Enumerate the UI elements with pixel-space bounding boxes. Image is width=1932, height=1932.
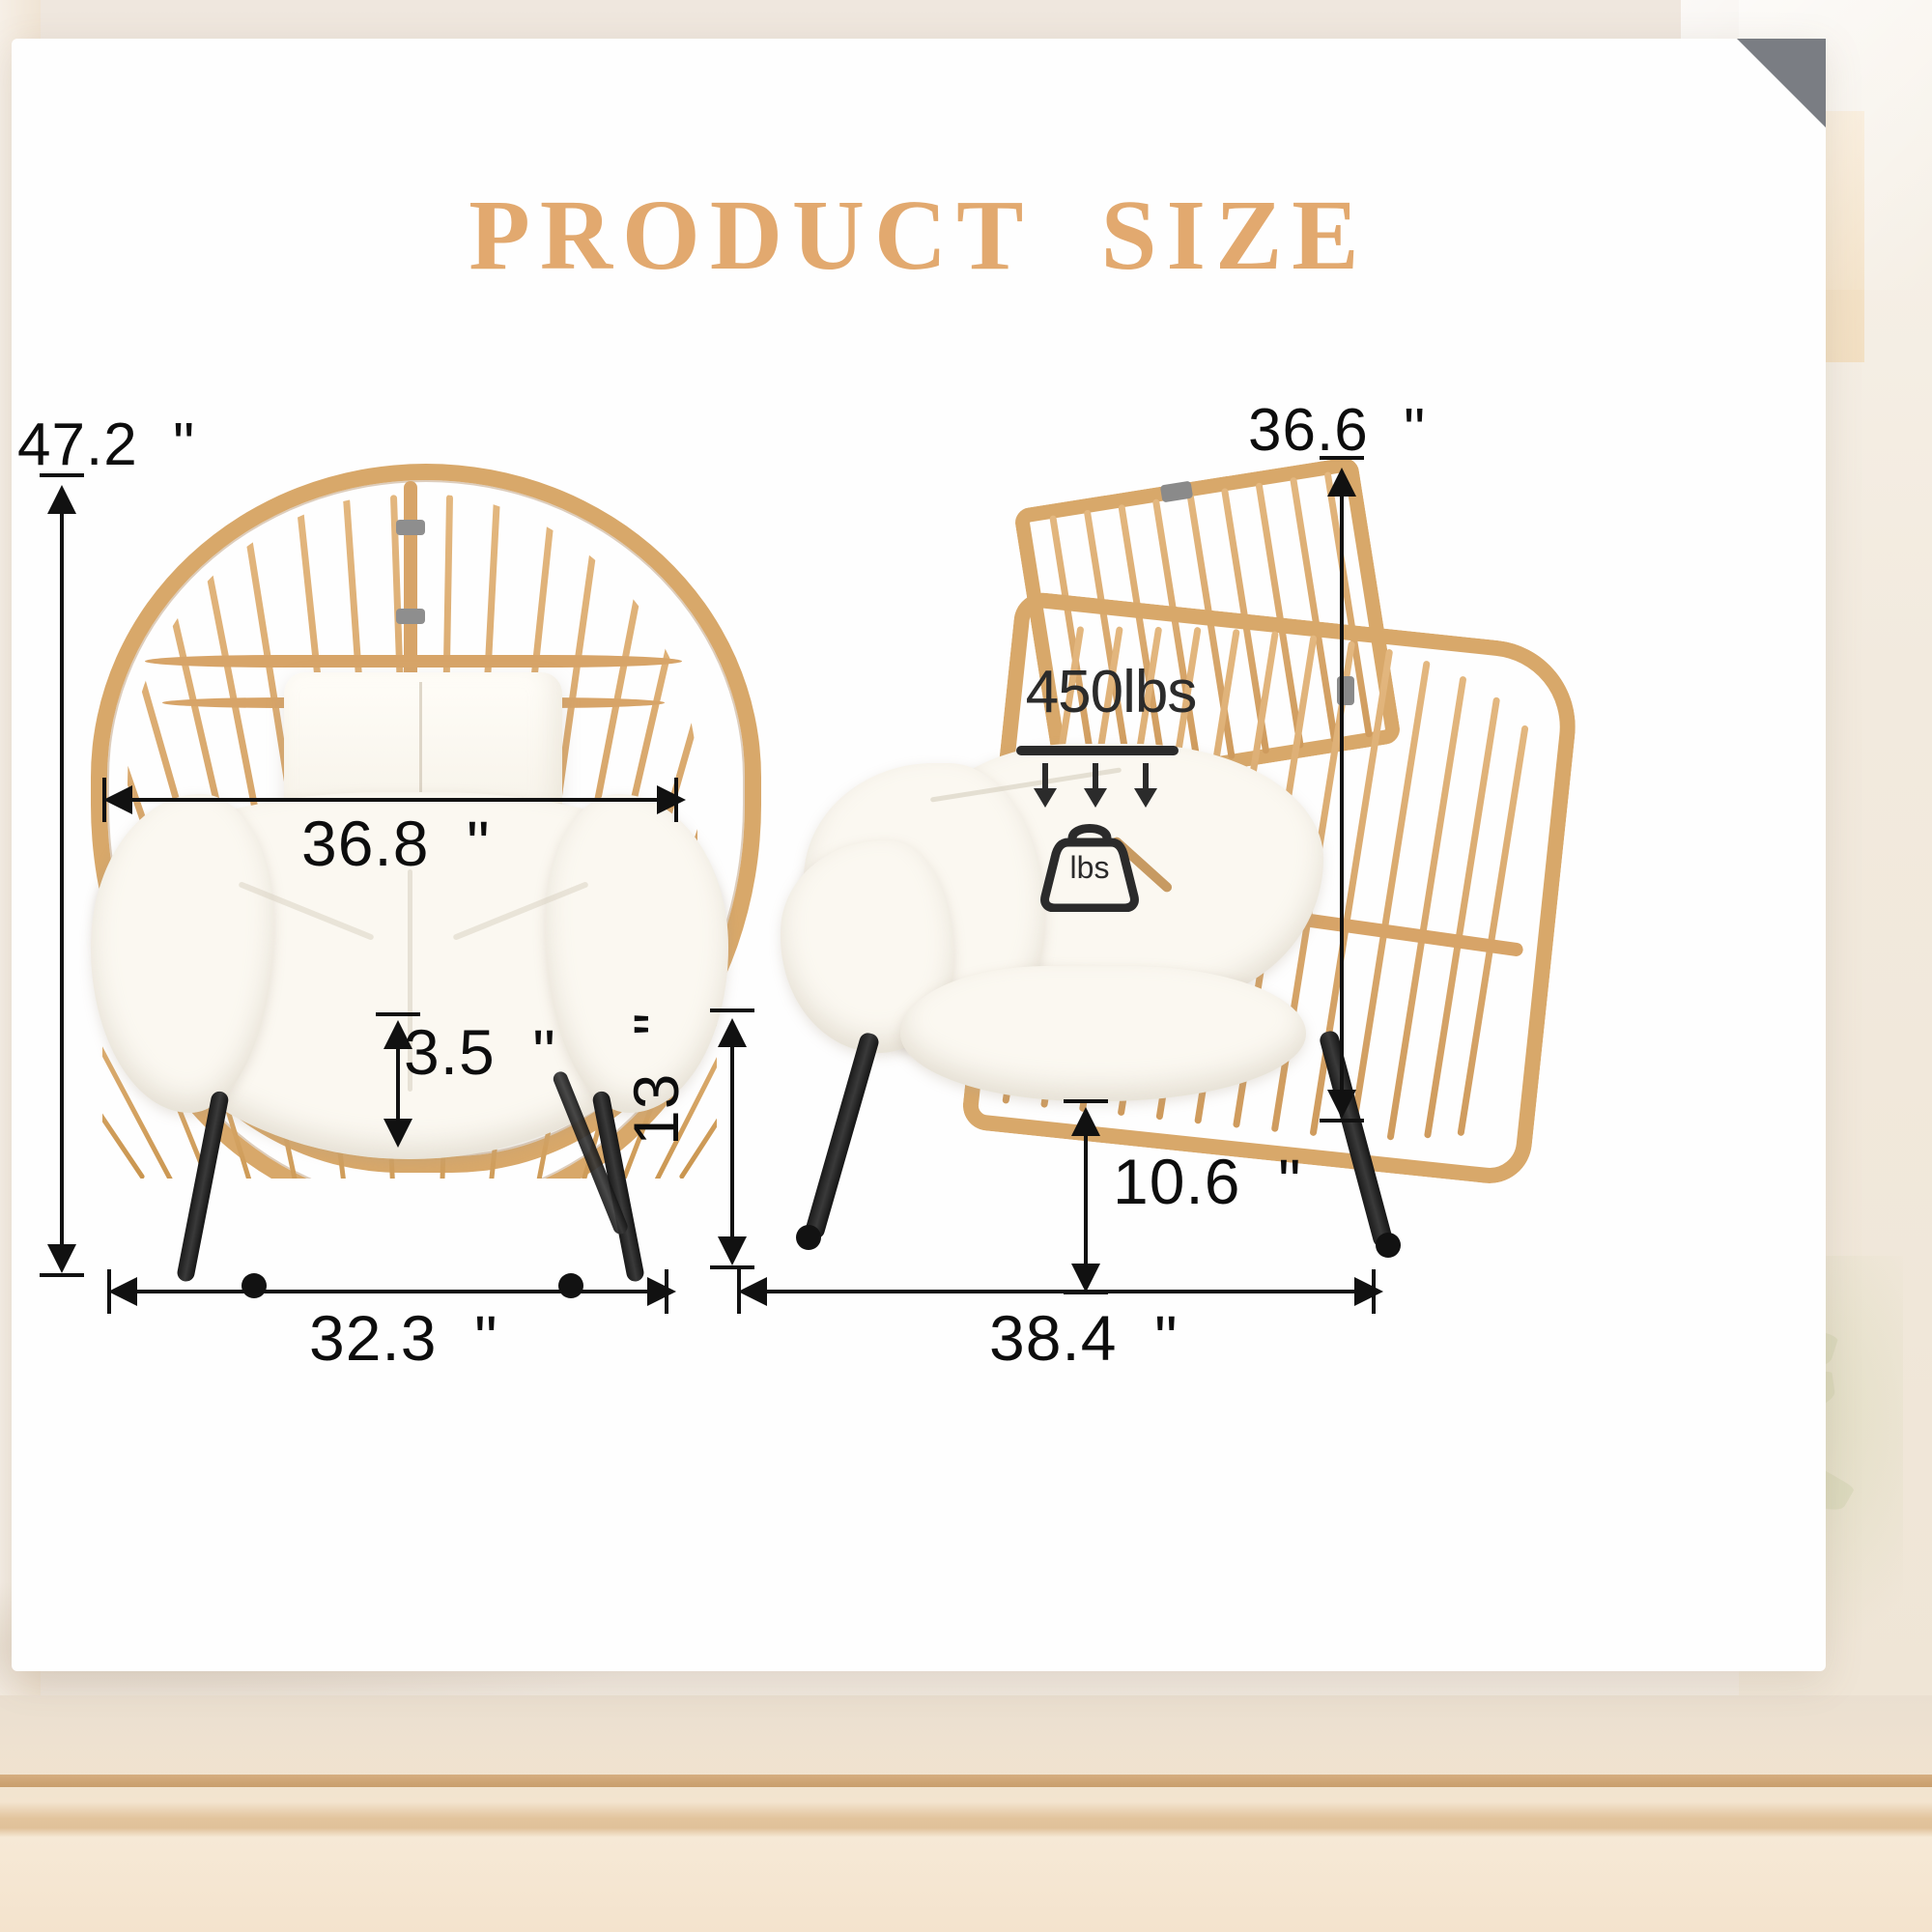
weight-capacity-label: 450lbs [995,663,1227,723]
dimension-cap-overall-depth-left [737,1269,741,1314]
arrow-up-seat-height [718,1018,747,1047]
dimension-cap-seat-height-top [710,1009,754,1012]
dimension-cap-overall-height-top [40,473,84,477]
product-size-infographic: PRODUCT SIZE [0,0,1932,1932]
product-card: PRODUCT SIZE [12,39,1826,1671]
dimension-cap-back-height-bottom [1320,1119,1364,1122]
dimension-line-overall-height [60,502,64,1265]
arrow-left-seat-width [103,785,132,814]
arrow-left-overall-depth [738,1277,767,1306]
dimension-label-seat-height: 13 " [624,1011,688,1146]
dimension-line-overall-depth [755,1290,1366,1293]
arrow-left-overall-width [108,1277,137,1306]
side-chair-lower-cushion [900,966,1306,1101]
dimension-cap-seat-width-left [102,778,106,822]
dimension-cap-seat-width-right [674,778,678,822]
weight-capacity-arrows-icon [1034,763,1169,811]
dimension-line-overall-width [126,1290,659,1293]
page-title: PRODUCT SIZE [12,185,1826,286]
arrow-right-overall-depth [1354,1277,1383,1306]
dimension-line-seat-height [730,1036,734,1258]
arrow-right-seat-width [657,785,686,814]
front-view-chair [70,454,784,1304]
front-chair-foot-right [558,1273,583,1298]
arrow-down-seat-height [718,1236,747,1265]
front-chair-hardware-clip [396,520,425,535]
arrow-down-frame-bottom [1071,1264,1100,1293]
front-chair-hardware-clip-2 [396,609,425,624]
dimension-label-seat-width: 36.8 " [301,811,491,875]
background-floor [0,1695,1932,1932]
arrow-down-overall-height [47,1244,76,1273]
weight-capacity-bar-icon [1016,746,1179,755]
arrow-up-frame-bottom [1071,1107,1100,1136]
dimension-label-overall-width: 32.3 " [309,1306,498,1370]
side-chair-foot-front [796,1225,821,1250]
dimension-line-seat-width [120,798,668,802]
dimension-label-frame-bottom-height: 10.6 " [1113,1150,1302,1213]
dimension-label-back-height: 36.6 " [1248,401,1426,461]
corner-fold-shine [1737,39,1826,128]
dimension-cap-overall-depth-right [1372,1269,1376,1314]
weight-icon-label: lbs [1036,852,1144,883]
dimension-label-cushion-thickness: 3.5 " [404,1020,556,1084]
side-chair-foot-rear [1376,1233,1401,1258]
dimension-cap-back-height-top [1320,456,1364,460]
arrow-up-overall-height [47,485,76,514]
dimension-cap-frame-bottom-top [1064,1099,1108,1103]
dimension-label-overall-height: 47.2 " [17,415,195,475]
arrow-down-cushion-thickness [384,1119,412,1148]
side-chair-leg-front [804,1031,881,1240]
dimension-cap-overall-height-bottom [40,1273,84,1277]
dimension-cap-seat-height-bottom [710,1265,754,1269]
dimension-line-frame-bottom [1084,1121,1088,1285]
arrow-up-back-height [1327,468,1356,497]
dimension-cap-overall-width-right [665,1269,668,1314]
arrow-down-back-height [1327,1090,1356,1119]
weight-capacity-badge: 450lbs lbs [995,663,1227,943]
dimension-cap-overall-width-left [107,1269,111,1314]
background-baseboard [0,1775,1932,1787]
arrow-right-overall-width [647,1277,676,1306]
dimension-line-back-height [1340,485,1344,1111]
front-chair-foot-left [241,1273,267,1298]
dimension-label-overall-depth: 38.4 " [989,1306,1179,1370]
